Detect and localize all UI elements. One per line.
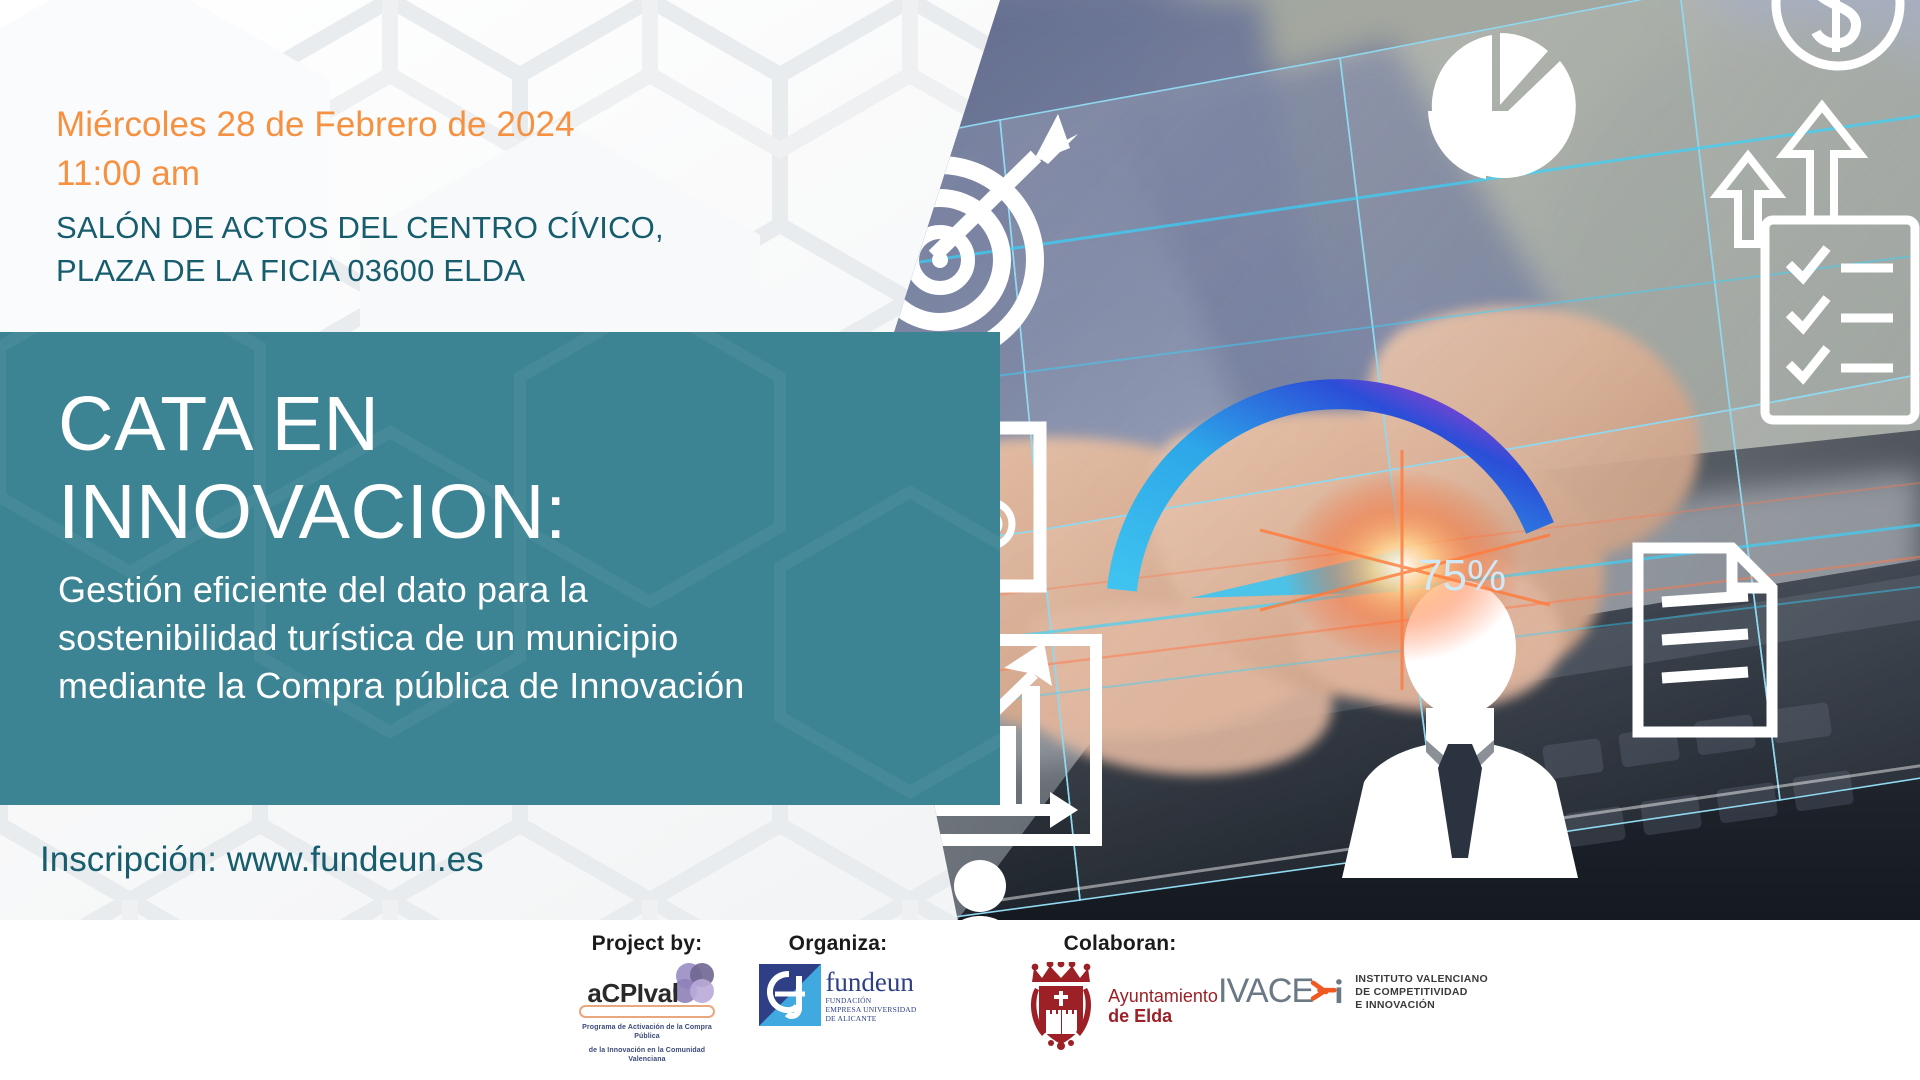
fundeun-wordmark: fundeun (825, 968, 916, 996)
ivace-tagline-line-1: INSTITUTO VALENCIANO (1355, 973, 1488, 986)
acpival-tagline-line-1: Programa de Activación de la Compra Públ… (572, 1023, 722, 1041)
elda-wordmark-line-2: de Elda (1108, 1006, 1218, 1026)
logo-group-project-by: Project by: aCPIval Programa de Activaci… (572, 932, 722, 1064)
event-date: Miércoles 28 de Febrero de 2024 (56, 100, 664, 149)
acpival-wordmark: aCPIval (558, 978, 708, 1009)
caption-project-by: Project by: (572, 932, 722, 956)
registration-link[interactable]: Inscripción: www.fundeun.es (40, 840, 484, 880)
event-details: Miércoles 28 de Febrero de 2024 11:00 am… (56, 100, 664, 292)
title-line-1: CATA EN (58, 380, 988, 468)
elda-wordmark-line-1: Ayuntamiento (1108, 986, 1218, 1006)
fundeun-tagline-line-1: FUNDACIÓN (825, 996, 916, 1005)
acpival-tagline-line-2: de la Innovación en la Comunidad Valenci… (572, 1046, 722, 1064)
event-time: 11:00 am (56, 149, 664, 198)
subtitle-line-2: sostenibilidad turística de un municipio (58, 614, 988, 662)
logo-group-ivace: IVACE INSTITUTO VALENCIANO DE COMPETITIV… (1218, 972, 1488, 1012)
fundeun-monogram-icon (759, 964, 821, 1026)
logo-group-colaboran: Colaboran: (1010, 932, 1230, 1050)
elda-logo[interactable]: Ayuntamiento de Elda (1010, 962, 1230, 1050)
event-venue-line-2: PLAZA DE LA FICIA 03600 ELDA (56, 249, 664, 292)
fundeun-logo[interactable]: fundeun FUNDACIÓN EMPRESA UNIVERSIDAD DE… (748, 964, 928, 1026)
ivace-wordmark-icon: IVACE (1218, 972, 1347, 1012)
fundeun-tagline-line-3: DE ALICANTE (825, 1014, 916, 1023)
fundeun-tagline-line-2: EMPRESA UNIVERSIDAD (825, 1005, 916, 1014)
subtitle-line-1: Gestión eficiente del dato para la (58, 566, 988, 614)
ivace-logo[interactable]: IVACE INSTITUTO VALENCIANO DE COMPETITIV… (1218, 972, 1488, 1012)
event-poster: 75% Miércoles 28 de Febrero de 2024 11:0… (0, 0, 1920, 1080)
gauge-value-label: 75% (1418, 551, 1506, 600)
ivace-tagline-line-3: E INNOVACIÓN (1355, 999, 1488, 1012)
caption-organiza: Organiza: (748, 932, 928, 956)
footer-logos: Project by: aCPIval Programa de Activaci… (0, 920, 1920, 1080)
elda-coat-of-arms-icon (1022, 962, 1100, 1050)
subtitle-line-3: mediante la Compra pública de Innovación (58, 662, 988, 710)
logo-group-organiza: Organiza: fundeun FUNDACIÓN EMPRESA UNIV… (748, 932, 928, 1026)
caption-colaboran: Colaboran: (1010, 932, 1230, 956)
title-block: CATA EN INNOVACION: Gestión eficiente de… (58, 380, 988, 710)
title-line-2: INNOVACION: (58, 468, 988, 556)
ivace-tagline-line-2: DE COMPETITIVIDAD (1355, 986, 1488, 999)
acpival-logo[interactable]: aCPIval Programa de Activación de la Com… (572, 968, 722, 1064)
event-venue-line-1: SALÓN DE ACTOS DEL CENTRO CÍVICO, (56, 206, 664, 249)
svg-text:IVACE: IVACE (1218, 972, 1313, 1010)
